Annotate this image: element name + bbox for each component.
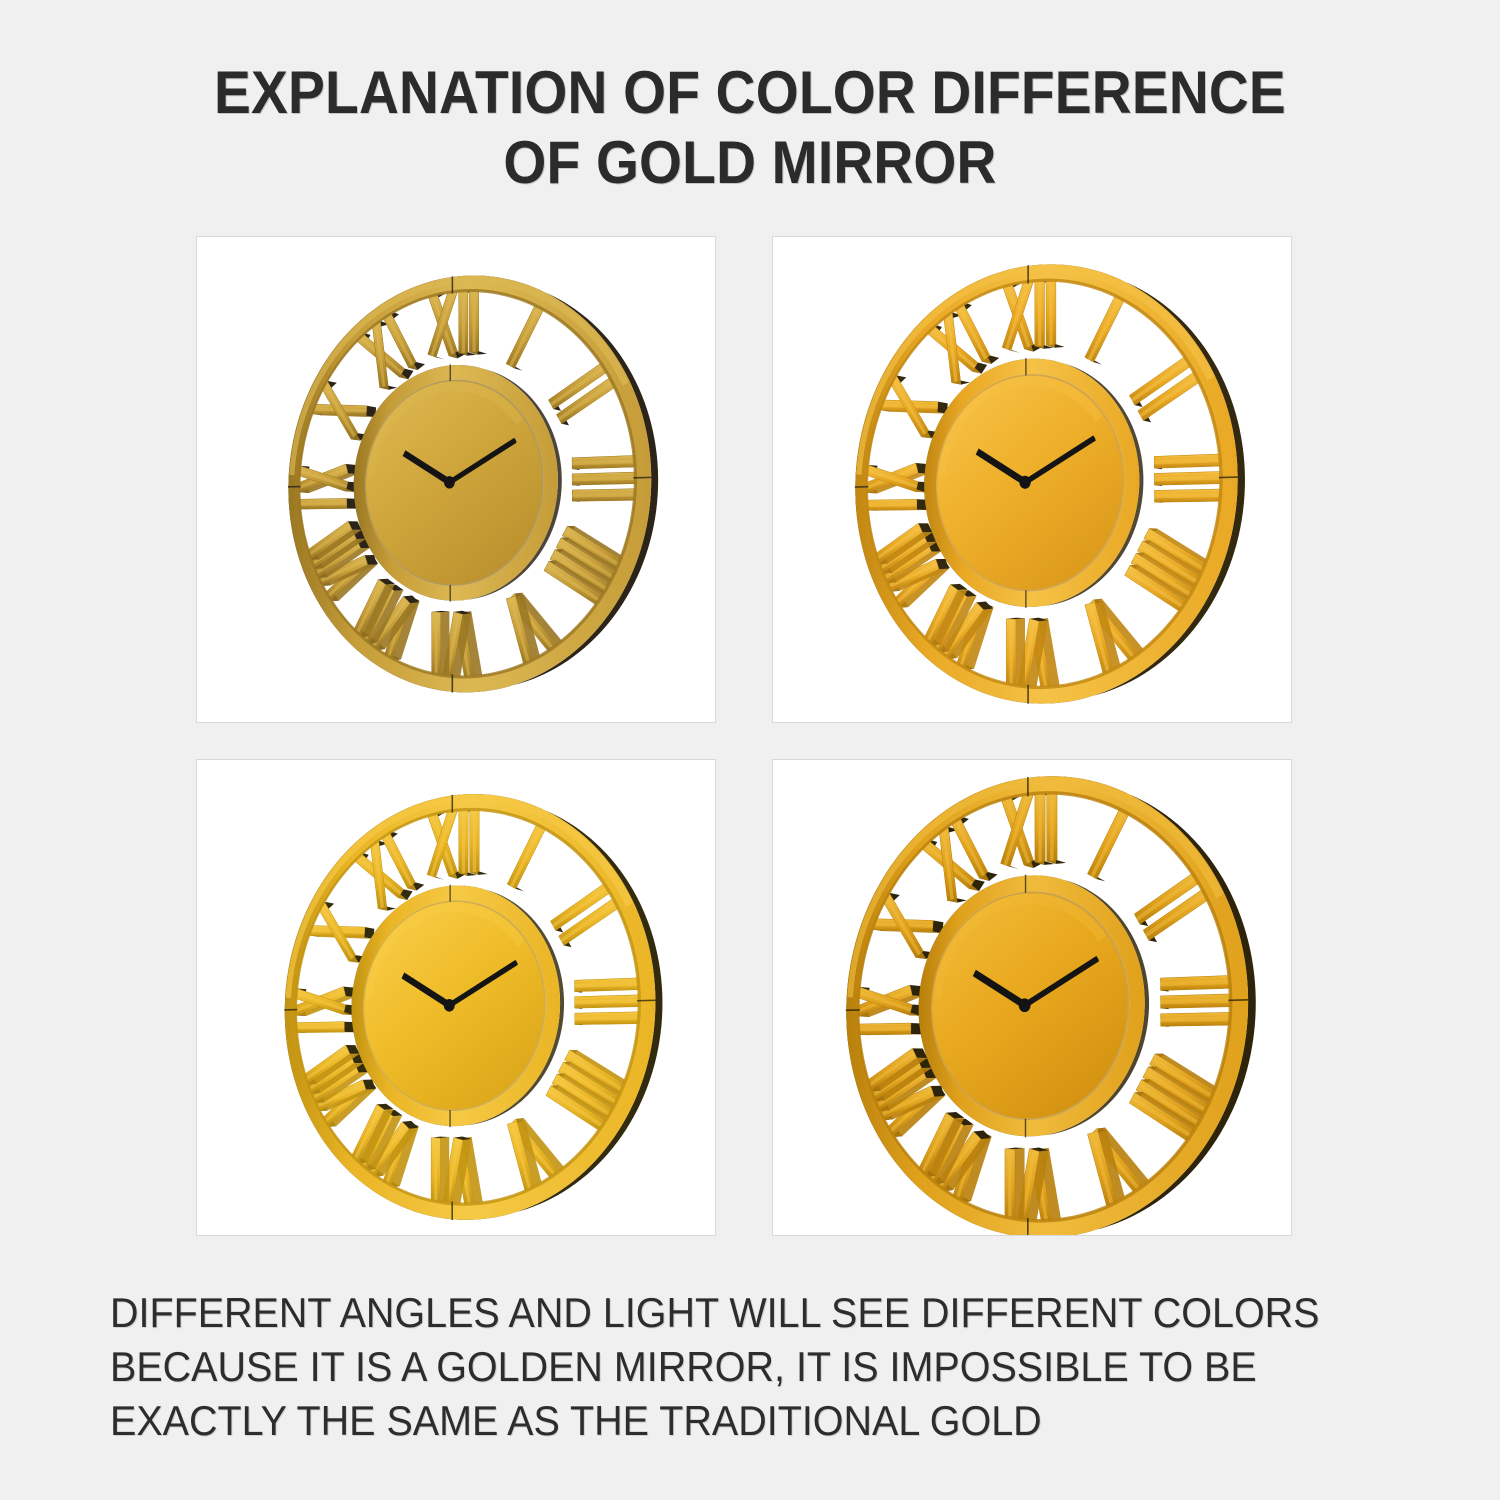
page-title-line-1: EXPLANATION OF COLOR DIFFERENCE (60, 58, 1440, 128)
numeral-bar-highlight (472, 287, 475, 351)
numeral-bar-highlight (435, 612, 438, 677)
clock-image-3 (197, 760, 715, 1235)
numeral-bar-highlight (1049, 277, 1052, 345)
numeral-bar-highlight (462, 289, 465, 353)
product-panel-bottom-right[interactable] (772, 759, 1292, 1236)
product-panel-bottom-left[interactable] (196, 759, 716, 1236)
clock-image-2 (773, 237, 1291, 722)
numeral-bar-highlight (473, 806, 476, 872)
rim-seam-1 (1219, 477, 1239, 478)
clock-image-4 (773, 760, 1291, 1235)
numeral-bar-highlight (1091, 809, 1127, 877)
clock-center-cap (444, 476, 455, 488)
clock-graphic (197, 760, 716, 1236)
product-image-grid (196, 236, 1292, 1236)
clock-image-1 (197, 237, 715, 722)
rim-seam-1 (1228, 1000, 1249, 1001)
numeral-bar-highlight (1009, 619, 1012, 687)
numeral-bar-highlight (1008, 1149, 1011, 1221)
clock-graphic (773, 237, 1292, 723)
product-panel-top-right[interactable] (772, 236, 1292, 723)
clock-center-cap (1019, 476, 1030, 489)
numeral-bar-highlight (1088, 296, 1122, 361)
caption-line-3: EXACTLY THE SAME AS THE TRADITIONAL GOLD (110, 1394, 1332, 1448)
clock-graphic (197, 237, 716, 723)
product-panel-top-left[interactable] (196, 236, 716, 723)
numeral-bar-highlight (462, 808, 465, 873)
caption-line-1: DIFFERENT ANGLES AND LIGHT WILL SEE DIFF… (110, 1286, 1332, 1340)
numeral-bar-side (1016, 618, 1025, 687)
clock-center-cap (1019, 998, 1031, 1012)
numeral-bar-side (441, 611, 450, 677)
numeral-bar-highlight (1050, 789, 1054, 860)
clock-graphic (773, 760, 1292, 1236)
page-title-line-2: OF GOLD MIRROR (60, 128, 1440, 198)
numeral-bar-highlight (510, 824, 543, 887)
page-title: EXPLANATION OF COLOR DIFFERENCE OF GOLD … (0, 58, 1500, 198)
caption-line-2: BECAUSE IT IS A GOLDEN MIRROR, IT IS IMP… (110, 1340, 1332, 1394)
numeral-bar-highlight (509, 305, 542, 367)
numeral-bar-highlight (1038, 278, 1041, 346)
numeral-bar-side (1015, 1148, 1025, 1221)
numeral-bar-side (440, 1137, 449, 1204)
caption: DIFFERENT ANGLES AND LIGHT WILL SEE DIFF… (110, 1286, 1410, 1448)
numeral-bar-highlight (1038, 791, 1041, 862)
numeral-bar-highlight (434, 1138, 437, 1204)
clock-center-cap (444, 999, 455, 1012)
